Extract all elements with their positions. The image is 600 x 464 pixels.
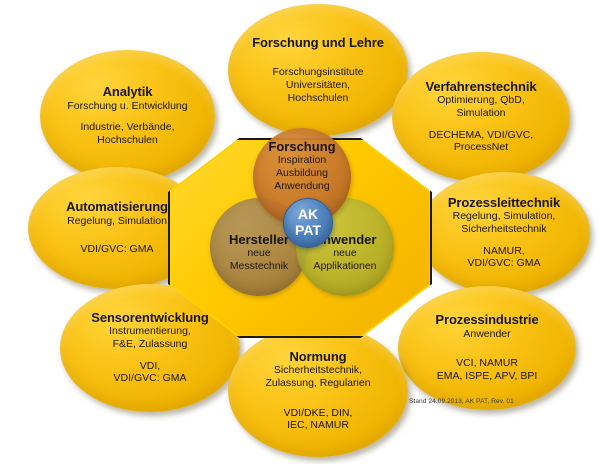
petal-verfahrenstechnik-orgs: DECHEMA, VDI/GVC, ProcessNet <box>429 129 533 155</box>
petal-prozessleittechnik-title: Prozessleittechnik <box>448 196 560 211</box>
venn-forschung-line: Ausbildung <box>276 167 328 180</box>
petal-sensorentwicklung-org-line: VDI, <box>114 360 187 373</box>
venn-hersteller-line: neue <box>247 247 270 260</box>
petal-analytik-subtitle: Forschung u. Entwicklung <box>67 100 187 113</box>
petal-verfahrenstechnik-org-line: ProcessNet <box>429 141 533 154</box>
ak-pat-line2: PAT <box>295 223 321 239</box>
petal-normung-org-line: IEC, NAMUR <box>284 419 353 432</box>
petal-prozessleittechnik-orgs: NAMUR, VDI/GVC: GMA <box>468 245 541 271</box>
petal-forschung-und-lehre-org-line: Universitäten, <box>272 79 363 92</box>
venn-hersteller-title: Hersteller <box>229 233 289 247</box>
ak-pat-line1: AK <box>298 207 318 223</box>
petal-automatisierung-subtitle: Regelung, Simulation <box>67 215 167 228</box>
diagram-canvas: Analytik Forschung u. Entwicklung Indust… <box>0 0 600 464</box>
petal-prozessleittechnik-subtitle: Regelung, Simulation, Sicherheitstechnik <box>453 210 556 235</box>
petal-forschung-und-lehre-org-line: Hochschulen <box>272 92 363 105</box>
venn-anwender-line: neue <box>333 247 356 260</box>
petal-sensorentwicklung-orgs: VDI, VDI/GVC: GMA <box>114 360 187 386</box>
petal-normung-title: Normung <box>289 350 346 365</box>
petal-prozessleittechnik-org-line: VDI/GVC: GMA <box>468 257 541 270</box>
venn-hersteller-line: Messtechnik <box>230 260 288 273</box>
petal-analytik-org-line: Industrie, Verbände, <box>81 121 175 134</box>
petal-forschung-und-lehre-orgs: Forschungsinstitute Universitäten, Hochs… <box>272 66 363 104</box>
petal-prozessindustrie-title: Prozessindustrie <box>435 313 538 328</box>
petal-prozessleittechnik-org-line: NAMUR, <box>468 245 541 258</box>
petal-forschung-und-lehre-title: Forschung und Lehre <box>252 36 384 51</box>
petal-sensorentwicklung-org-line: VDI/GVC: GMA <box>114 372 187 385</box>
petal-automatisierung-title: Automatisierung <box>66 200 168 215</box>
venn-anwender-line: Applikationen <box>313 260 376 273</box>
petal-normung-orgs: VDI/DKE, DIN, IEC, NAMUR <box>284 407 353 433</box>
petal-normung-org-line: VDI/DKE, DIN, <box>284 407 353 420</box>
petal-prozessleittechnik[interactable]: Prozessleittechnik Regelung, Simulation,… <box>418 172 590 294</box>
petal-analytik-orgs: Industrie, Verbände, Hochschulen <box>81 121 175 147</box>
petal-verfahrenstechnik-title: Verfahrenstechnik <box>425 80 536 95</box>
petal-automatisierung-orgs: VDI/GVC: GMA <box>81 243 154 256</box>
petal-prozessindustrie-orgs: VCI, NAMUR EMA, ISPE, APV, BPI <box>437 357 538 383</box>
petal-prozessindustrie-org-line: EMA, ISPE, APV, BPI <box>437 370 538 383</box>
petal-forschung-und-lehre-org-line: Forschungsinstitute <box>272 66 363 79</box>
petal-verfahrenstechnik-org-line: DECHEMA, VDI/GVC, <box>429 129 533 142</box>
petal-normung[interactable]: Normung Sicherheitstechnik, Zulassung, R… <box>228 325 408 457</box>
petal-normung-subtitle: Sicherheitstechnik, Zulassung, Regularie… <box>265 364 370 389</box>
venn-forschung-line: Inspiration <box>278 154 326 167</box>
venn-forschung-line: Anwendung <box>274 180 329 193</box>
petal-automatisierung-org-line: VDI/GVC: GMA <box>81 243 154 256</box>
venn-hub-ak-pat[interactable]: AK PAT <box>283 198 333 248</box>
petal-analytik-title: Analytik <box>103 85 153 100</box>
petal-verfahrenstechnik-subtitle: Optimierung, QbD, Simulation <box>437 94 525 119</box>
petal-prozessindustrie-org-line: VCI, NAMUR <box>437 357 538 370</box>
petal-prozessindustrie-subtitle: Anwender <box>463 328 510 341</box>
petal-forschung-und-lehre[interactable]: Forschung und Lehre Forschungsinstitute … <box>228 4 408 136</box>
venn-forschung-title: Forschung <box>268 140 335 154</box>
revision-footnote: Stand 24.09.2013, AK PAT, Rev. 01 <box>409 398 514 405</box>
petal-analytik-org-line: Hochschulen <box>81 134 175 147</box>
